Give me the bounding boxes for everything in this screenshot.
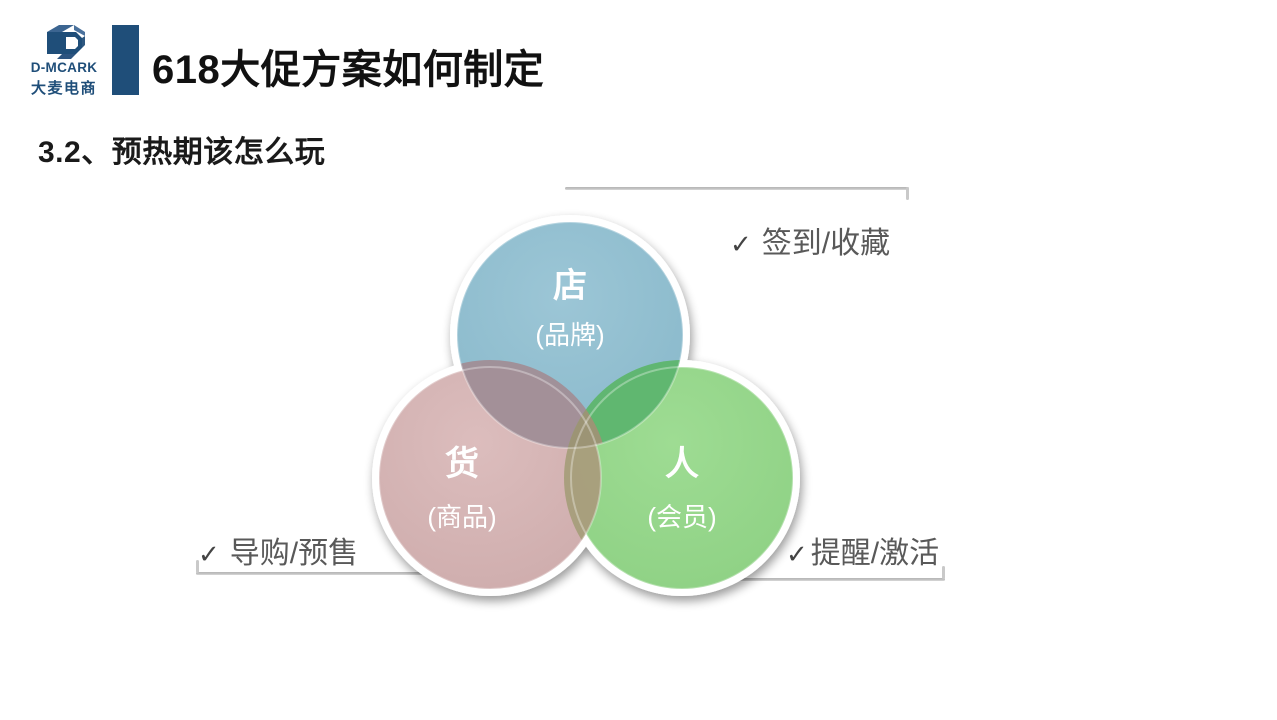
callout-remind-label: 提醒/激活 xyxy=(811,528,939,572)
venn-label-store-main: 店 xyxy=(553,267,587,305)
callout-signin: ✓ 签到/收藏 xyxy=(730,218,890,262)
callout-signin-label: 签到/收藏 xyxy=(762,218,890,262)
venn-label-people-main: 人 xyxy=(665,445,699,483)
callout-guide-label: 导购/预售 xyxy=(230,528,358,572)
check-icon: ✓ xyxy=(198,539,220,570)
check-icon: ✓ xyxy=(786,539,808,570)
venn-label-goods-sub: (商品) xyxy=(427,502,496,532)
venn-label-store-sub: (品牌) xyxy=(535,320,604,350)
venn-label-goods-main: 货 xyxy=(445,445,479,483)
check-icon: ✓ xyxy=(730,229,752,260)
venn-diagram: 店 (品牌) 货 (商品) 人 (会员) xyxy=(0,0,1277,720)
slide-canvas: D-MCARK 大麦电商 618大促方案如何制定 3.2、预热期该怎么玩 xyxy=(0,0,1277,720)
venn-label-people-sub: (会员) xyxy=(647,502,716,532)
callout-guide: ✓ 导购/预售 xyxy=(198,528,358,572)
callout-remind: ✓ 提醒/激活 xyxy=(786,528,939,572)
